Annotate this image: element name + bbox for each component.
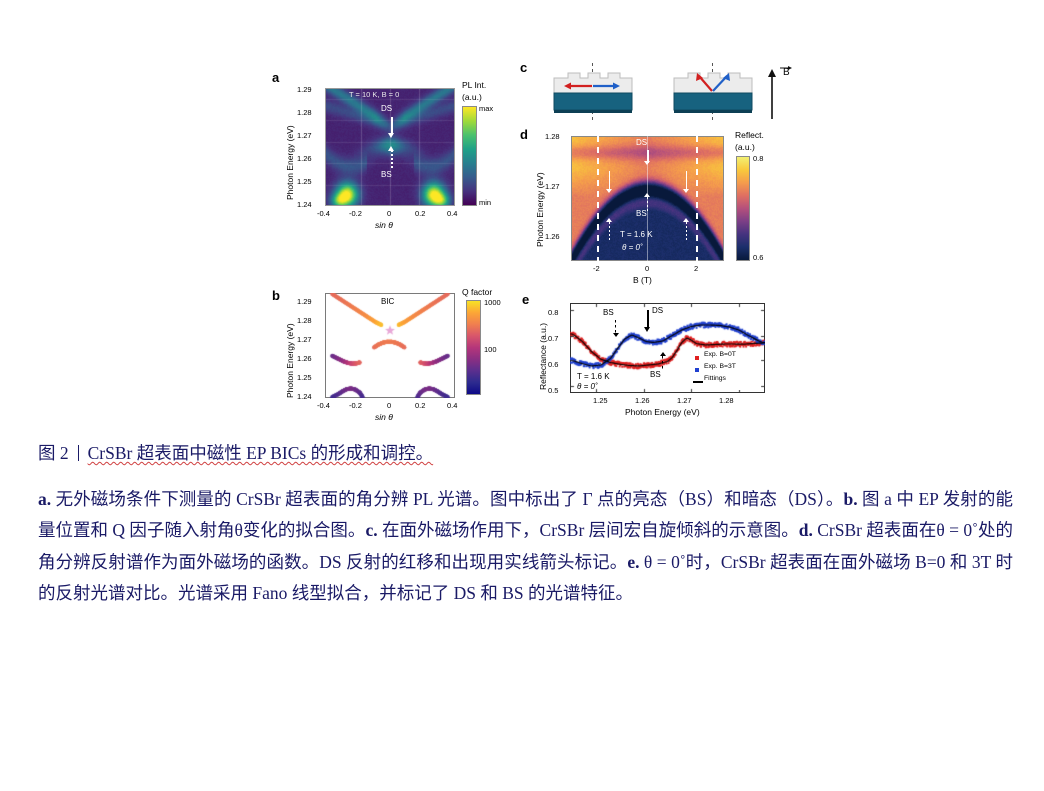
panel-e-bs-bottom-arrow — [662, 356, 663, 370]
panel-e-xlabel: Photon Energy (eV) — [625, 407, 700, 417]
panel-d-bs-arrow-right — [686, 222, 688, 240]
legend-line-2 — [693, 381, 703, 383]
panel-e-angle: θ = 0˚ — [577, 382, 598, 391]
panel-b-ytick-2: 1.26 — [297, 354, 312, 363]
legend-label-0: Exp. B=0T — [704, 351, 736, 358]
panel-d-ds-arrowhead — [644, 161, 650, 165]
panel-c-label: c — [520, 60, 527, 75]
panel-b-xtick-4: 0.4 — [447, 401, 457, 410]
panel-e-ds-label: DS — [652, 306, 663, 315]
panel-d-side-arrowhead-right — [683, 189, 689, 193]
caption-seg-1-bold: b. — [843, 489, 857, 509]
legend-label-2: Fittings — [704, 375, 726, 382]
caption-body: a. 无外磁场条件下测量的 CrSBr 超表面的角分辨 PL 光谱。图中标出了 … — [38, 484, 1013, 609]
panel-b-label: b — [272, 288, 280, 303]
panel-b-scatter-canvas — [325, 293, 455, 398]
panel-d-guide-right — [696, 136, 698, 261]
panel-b-ytick-0: 1.24 — [297, 392, 312, 401]
panel-d-angle: θ = 0˚ — [622, 243, 643, 252]
panel-e-bs-top-arrow — [615, 320, 616, 334]
panel-d-xtick-1: 0 — [645, 264, 649, 273]
panel-d-xlabel: B (T) — [633, 275, 652, 285]
panel-d-side-arrow-left — [609, 171, 611, 191]
panel-d-ytick-1: 1.27 — [545, 182, 560, 191]
panel-d-temp: T = 1.6 K — [620, 230, 653, 239]
panel-e-ytick-2: 0.7 — [548, 334, 558, 343]
panel-e-xtick-3: 1.28 — [719, 396, 734, 405]
panel-b-ytick-1: 1.25 — [297, 373, 312, 382]
panel-e-label: e — [522, 292, 529, 307]
panel-d-bs-arrowhead-right — [683, 218, 689, 222]
caption-seg-0-text: 无外磁场条件下测量的 CrSBr 超表面的角分辨 PL 光谱。图中标出了 Γ 点… — [51, 489, 843, 509]
panel-d: d Photon Energy (eV) 1.28 1.27 1.26 DS B… — [515, 125, 815, 290]
panel-e: e Reflectance (a.u.) 0.8 0.7 0.6 0.5 BS … — [515, 290, 815, 425]
panel-d-guide-left — [597, 136, 599, 261]
legend-marker-1 — [695, 368, 699, 372]
figure-area: a Photon Energy (eV) 1.29 1.28 1.27 1.26… — [0, 0, 1044, 430]
panel-b-ylabel: Photon Energy (eV) — [285, 323, 295, 398]
panel-b-xtick-1: -0.2 — [349, 401, 362, 410]
caption-separator — [78, 445, 79, 461]
panel-b-ytick-3: 1.27 — [297, 335, 312, 344]
panel-d-xtick-2: 2 — [694, 264, 698, 273]
legend-marker-0 — [695, 356, 699, 360]
panel-d-colorbar-title-1: Reflect. — [735, 130, 764, 140]
panel-e-legend: Exp. B=0T Exp. B=3T Fittings — [693, 352, 761, 390]
caption-title-text: CrSBr 超表面中磁性 EP BICs 的形成和调控。 — [88, 443, 434, 463]
caption-seg-2-bold: c. — [365, 520, 377, 540]
caption-seg-4-bold: e. — [627, 552, 639, 572]
panel-d-bs-arrow-left — [609, 222, 611, 240]
caption-seg-0-bold: a. — [38, 489, 51, 509]
caption-figure-number: 图 2 — [38, 443, 69, 463]
panel-b-xlabel: sin θ — [375, 412, 393, 422]
panel-c-field-label: B — [783, 67, 790, 78]
panel-e-bs-top-label: BS — [603, 308, 614, 317]
panel-d-bs-arrowhead-left — [606, 218, 612, 222]
panel-b: b Photon Energy (eV) 1.29 1.28 1.27 1.26… — [0, 0, 520, 430]
figure-caption: 图 2CrSBr 超表面中磁性 EP BICs 的形成和调控。 a. 无外磁场条… — [38, 440, 1013, 609]
panel-b-colorbar — [466, 300, 481, 395]
panel-e-ylabel: Reflectance (a.u.) — [538, 323, 548, 390]
panel-e-xtick-1: 1.26 — [635, 396, 650, 405]
panel-e-temp: T = 1.6 K — [577, 372, 610, 381]
schematic-left-spin-arrows-icon — [550, 65, 635, 120]
panel-e-xtick-2: 1.27 — [677, 396, 692, 405]
panel-d-ytick-2: 1.28 — [545, 132, 560, 141]
panel-b-colorbar-title: Q factor — [462, 287, 492, 297]
panel-d-bs-label: BS — [636, 209, 647, 218]
panel-e-bs-top-arrowhead — [613, 333, 619, 337]
panel-c: c — [515, 55, 815, 130]
panel-b-bic-label: BIC — [381, 297, 394, 306]
panel-d-ylabel: Photon Energy (eV) — [535, 172, 545, 247]
panel-d-bs-arrow-center — [647, 197, 649, 211]
panel-d-colorbar — [736, 156, 750, 261]
caption-seg-2-text: 在面外磁场作用下，CrSBr 层间宏自旋倾斜的示意图。 — [378, 520, 799, 540]
panel-e-ytick-0: 0.5 — [548, 386, 558, 395]
panel-d-colorbar-title-2: (a.u.) — [735, 142, 755, 152]
panel-d-ds-label: DS — [636, 138, 647, 147]
panel-b-xtick-2: 0 — [387, 401, 391, 410]
panel-e-xtick-0: 1.25 — [593, 396, 608, 405]
schematic-left — [550, 65, 635, 120]
panel-e-ytick-1: 0.6 — [548, 360, 558, 369]
panel-b-colorbar-high: 1000 — [484, 298, 501, 307]
schematic-right — [670, 65, 755, 120]
panel-d-side-arrowhead-left — [606, 189, 612, 193]
panel-e-bs-bottom-arrowhead — [660, 352, 666, 356]
panel-e-ytick-3: 0.8 — [548, 308, 558, 317]
panel-b-xtick-3: 0.2 — [415, 401, 425, 410]
panel-b-ytick-5: 1.29 — [297, 297, 312, 306]
caption-title-line: 图 2CrSBr 超表面中磁性 EP BICs 的形成和调控。 — [38, 440, 1013, 466]
panel-d-colorbar-low: 0.6 — [753, 253, 763, 262]
panel-d-label: d — [520, 127, 528, 142]
panel-d-ytick-0: 1.26 — [545, 232, 560, 241]
panel-e-ds-arrowhead — [644, 327, 650, 332]
panel-d-side-arrow-right — [686, 171, 688, 191]
panel-b-colorbar-low: 100 — [484, 345, 497, 354]
panel-b-ytick-4: 1.28 — [297, 316, 312, 325]
caption-seg-3-bold: d. — [799, 520, 813, 540]
panel-d-bs-arrowhead-center — [644, 193, 650, 197]
panel-d-xtick-0: -2 — [593, 264, 600, 273]
legend-label-1: Exp. B=3T — [704, 363, 736, 370]
panel-d-colorbar-high: 0.8 — [753, 154, 763, 163]
schematic-right-canted-spin-arrows-icon — [670, 65, 755, 120]
panel-b-xtick-0: -0.4 — [317, 401, 330, 410]
panel-e-bs-bottom-label: BS — [650, 370, 661, 379]
